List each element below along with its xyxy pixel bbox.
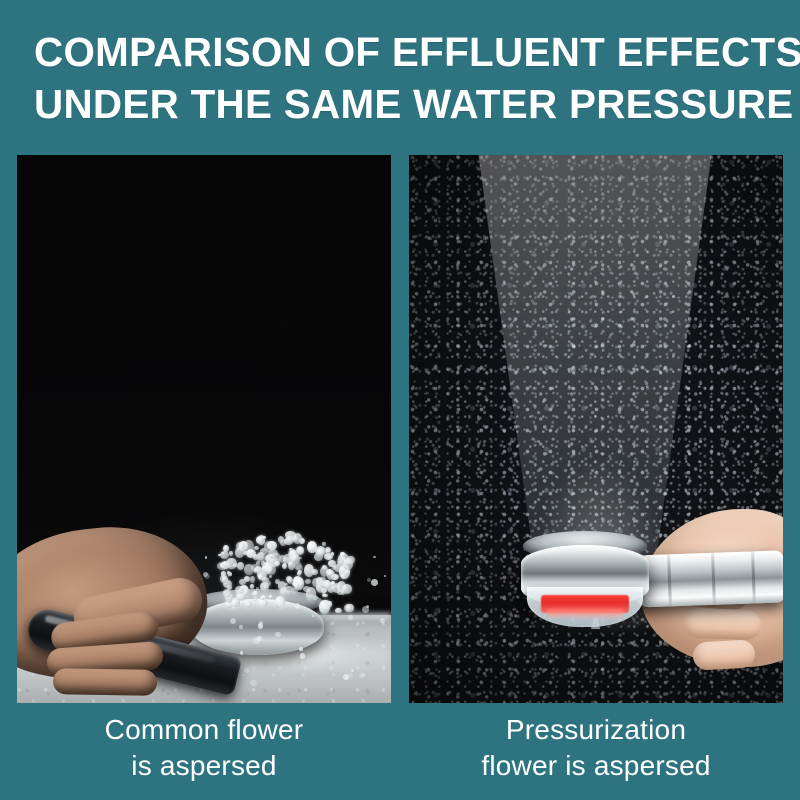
water-fleck <box>299 647 303 651</box>
water-droplet <box>268 549 278 559</box>
caption-pressurization-line-2: flower is aspersed <box>409 748 783 784</box>
finger-right-2 <box>683 608 762 641</box>
chrome-shower-handle <box>633 550 783 607</box>
water-fleck <box>230 618 236 624</box>
comparison-panels <box>17 155 783 703</box>
page-title: COMPARISON OF EFFLUENT EFFECTS UNDER THE… <box>34 26 774 130</box>
water-fleck <box>296 565 302 571</box>
water-fleck <box>276 581 279 584</box>
water-fleck <box>278 602 284 608</box>
water-droplet <box>305 579 311 583</box>
water-droplet <box>312 569 318 575</box>
water-droplet <box>323 594 328 597</box>
water-fleck <box>225 594 228 597</box>
water-fleck <box>371 579 378 586</box>
water-fleck <box>283 557 290 564</box>
water-droplet <box>319 600 330 614</box>
water-fleck <box>253 637 260 644</box>
panel-captions: Common flower is aspersed Pressurization… <box>17 712 783 784</box>
finger-left-3 <box>53 668 157 696</box>
water-fleck <box>228 572 232 576</box>
water-droplet <box>235 547 244 558</box>
water-droplet <box>256 536 265 544</box>
water-fleck <box>384 575 386 577</box>
water-droplet <box>262 577 269 583</box>
water-fleck <box>322 591 324 593</box>
water-droplet <box>239 579 246 585</box>
finger-right-3 <box>692 639 755 670</box>
water-droplet <box>244 600 252 608</box>
water-droplet <box>289 548 293 551</box>
caption-common-line-1: Common flower <box>17 712 391 748</box>
water-fleck <box>240 651 243 654</box>
water-droplet <box>253 554 258 560</box>
water-droplet <box>244 564 254 575</box>
handle-seam-3 <box>751 551 756 603</box>
water-droplet <box>250 584 255 589</box>
water-droplet <box>327 570 335 579</box>
water-droplet <box>322 565 328 570</box>
water-fleck <box>341 557 345 561</box>
water-fleck <box>265 562 269 566</box>
water-fleck <box>244 668 249 673</box>
water-fleck <box>250 680 257 687</box>
title-line-2: UNDER THE SAME WATER PRESSURE <box>34 78 763 130</box>
water-droplet <box>343 558 353 569</box>
water-droplet <box>282 563 287 569</box>
water-droplet <box>278 536 284 543</box>
water-droplet <box>222 552 225 554</box>
water-droplet <box>294 582 299 589</box>
caption-pressurization-shower: Pressurization flower is aspersed <box>409 712 783 784</box>
water-droplet <box>258 599 268 607</box>
water-droplet <box>269 595 272 599</box>
water-fleck <box>348 615 353 620</box>
water-droplet <box>280 587 287 596</box>
water-droplet <box>260 582 269 591</box>
water-droplet <box>274 561 280 566</box>
pressurized-shower-head <box>521 545 649 607</box>
water-droplet <box>254 597 258 601</box>
title-line-1: COMPARISON OF EFFLUENT EFFECTS <box>34 26 763 78</box>
water-fleck <box>275 632 281 638</box>
water-droplet <box>252 591 258 596</box>
caption-common-shower: Common flower is aspersed <box>17 712 391 784</box>
water-droplet <box>297 547 303 553</box>
water-fleck <box>359 673 364 678</box>
panel-pressurization-shower <box>409 155 783 703</box>
panel-common-shower <box>17 155 391 703</box>
handle-seam-2 <box>711 553 716 605</box>
water-droplet <box>254 546 259 550</box>
water-droplet <box>284 583 288 586</box>
water-droplet <box>297 571 301 576</box>
handle-seam-1 <box>667 554 672 606</box>
water-droplet <box>335 608 342 613</box>
water-droplet <box>269 575 272 578</box>
water-droplet <box>229 551 233 555</box>
water-droplet <box>341 574 345 579</box>
water-fleck <box>367 578 371 582</box>
water-droplet <box>220 575 227 583</box>
water-fleck <box>300 653 305 658</box>
water-fleck <box>312 615 314 617</box>
red-filter-glow <box>547 609 623 618</box>
caption-common-line-2: is aspersed <box>17 748 391 784</box>
water-fleck <box>367 606 369 608</box>
water-droplet <box>250 576 255 583</box>
caption-pressurization-line-1: Pressurization <box>409 712 783 748</box>
poster-root: COMPARISON OF EFFLUENT EFFECTS UNDER THE… <box>0 0 800 800</box>
